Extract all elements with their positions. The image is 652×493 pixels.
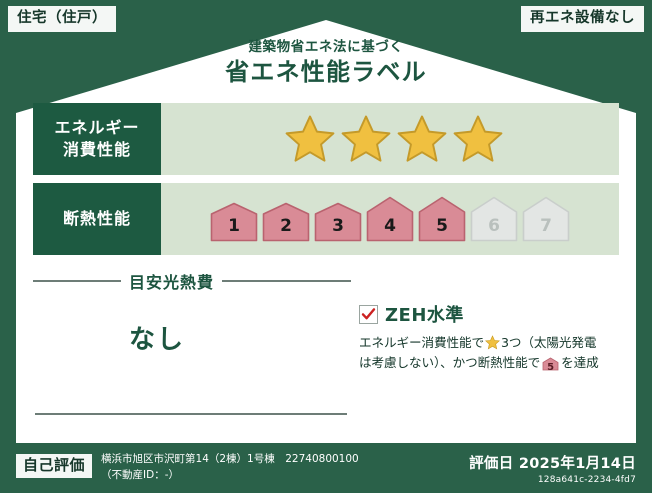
insulation-badge-inline-number: 5	[542, 360, 559, 376]
zeh-checkbox[interactable]	[359, 305, 378, 324]
zeh-desc-part2: 3つ（太陽光発電	[501, 335, 596, 350]
row-energy-value	[161, 103, 619, 175]
title-main: 省エネ性能ラベル	[0, 59, 652, 85]
zeh-desc-part3: は考慮しない）、かつ断熱性能で	[359, 355, 540, 370]
utility-cost-value: なし	[33, 319, 351, 356]
insulation-grade-number: 6	[470, 216, 518, 236]
page-title: 建築物省エネ法に基づく 省エネ性能ラベル	[0, 40, 652, 85]
evaluation-hash: 128a641c-2234-4fd7	[469, 475, 636, 485]
zeh-description: エネルギー消費性能で3つ（太陽光発電 は考慮しない）、かつ断熱性能で5を達成	[359, 333, 619, 376]
heading-rule-right	[222, 280, 351, 282]
badge-renewable-energy: 再エネ設備なし	[521, 6, 644, 32]
insulation-grade-number: 1	[210, 216, 258, 236]
footer-bar: 自己評価 横浜市旭区市沢町第14（2棟）1号棟 22740800100 （不動産…	[0, 443, 652, 493]
insulation-grade-number: 4	[366, 216, 414, 236]
insulation-grade-number: 2	[262, 216, 310, 236]
insulation-grade-number: 5	[418, 216, 466, 236]
zeh-block: ZEH水準 エネルギー消費性能で3つ（太陽光発電 は考慮しない）、かつ断熱性能で…	[351, 265, 619, 437]
heading-rule-left	[33, 280, 121, 282]
lower-section: 目安光熱費 なし ZEH水準 エネルギー消費性能で3つ（太陽光発電 は考慮しない…	[33, 265, 619, 437]
self-evaluation-badge: 自己評価	[16, 454, 92, 478]
row-energy-performance: エネルギー 消費性能	[33, 103, 619, 175]
footer-right: 評価日 2025年1月14日 128a641c-2234-4fd7	[469, 452, 652, 485]
utility-cost-title: 目安光熱費	[129, 269, 214, 293]
row-insulation-value: 1234567	[161, 183, 619, 255]
property-address: 横浜市旭区市沢町第14（2棟）1号棟 22740800100 （不動産ID：-）	[101, 452, 359, 484]
insulation-grade-6: 6	[470, 196, 518, 242]
utility-cost-block: 目安光熱費 なし	[33, 265, 351, 437]
row-insulation-label: 断熱性能	[33, 183, 161, 255]
row-energy-label: エネルギー 消費性能	[33, 103, 161, 175]
insulation-grade-3: 3	[314, 202, 362, 242]
row-insulation-label-line1: 断熱性能	[63, 208, 131, 230]
row-energy-label-line2: 消費性能	[63, 139, 131, 161]
utility-cost-bottom-rule	[35, 413, 347, 415]
row-energy-label-line1: エネルギー	[54, 117, 139, 139]
insulation-grade-4: 4	[366, 196, 414, 242]
zeh-desc-part1: エネルギー消費性能で	[359, 335, 484, 350]
check-icon	[361, 307, 376, 322]
title-subtitle: 建築物省エネ法に基づく	[0, 40, 652, 55]
insulation-grade-number: 7	[522, 216, 570, 236]
star-icon	[340, 113, 392, 165]
insulation-grade-7: 7	[522, 196, 570, 242]
insulation-badge-inline: 5	[542, 357, 559, 377]
property-address-line2: （不動産ID：-）	[101, 468, 359, 484]
insulation-grade-scale: 1234567	[210, 196, 570, 242]
zeh-title: ZEH水準	[385, 301, 464, 327]
star-icon	[284, 113, 336, 165]
insulation-grade-1: 1	[210, 202, 258, 242]
insulation-grade-number: 3	[314, 216, 362, 236]
star-rating	[284, 113, 504, 165]
utility-cost-heading: 目安光熱費	[33, 269, 351, 293]
row-insulation-performance: 断熱性能 1234567	[33, 183, 619, 255]
zeh-heading: ZEH水準	[359, 301, 619, 327]
insulation-grade-5: 5	[418, 196, 466, 242]
star-icon	[452, 113, 504, 165]
property-address-line1: 横浜市旭区市沢町第14（2棟）1号棟 22740800100	[101, 452, 359, 468]
zeh-desc-part4: を達成	[561, 355, 598, 370]
footer-left: 自己評価 横浜市旭区市沢町第14（2棟）1号棟 22740800100 （不動産…	[0, 452, 359, 484]
star-icon	[396, 113, 448, 165]
star-icon-inline	[485, 335, 500, 350]
evaluation-date: 評価日 2025年1月14日	[469, 452, 636, 473]
performance-rows: エネルギー 消費性能 断熱性能 1234567	[33, 103, 619, 263]
energy-performance-label: 住宅（住戸） 再エネ設備なし 建築物省エネ法に基づく 省エネ性能ラベル エネルギ…	[0, 0, 652, 493]
insulation-grade-2: 2	[262, 202, 310, 242]
badge-building-type: 住宅（住戸）	[8, 6, 116, 32]
